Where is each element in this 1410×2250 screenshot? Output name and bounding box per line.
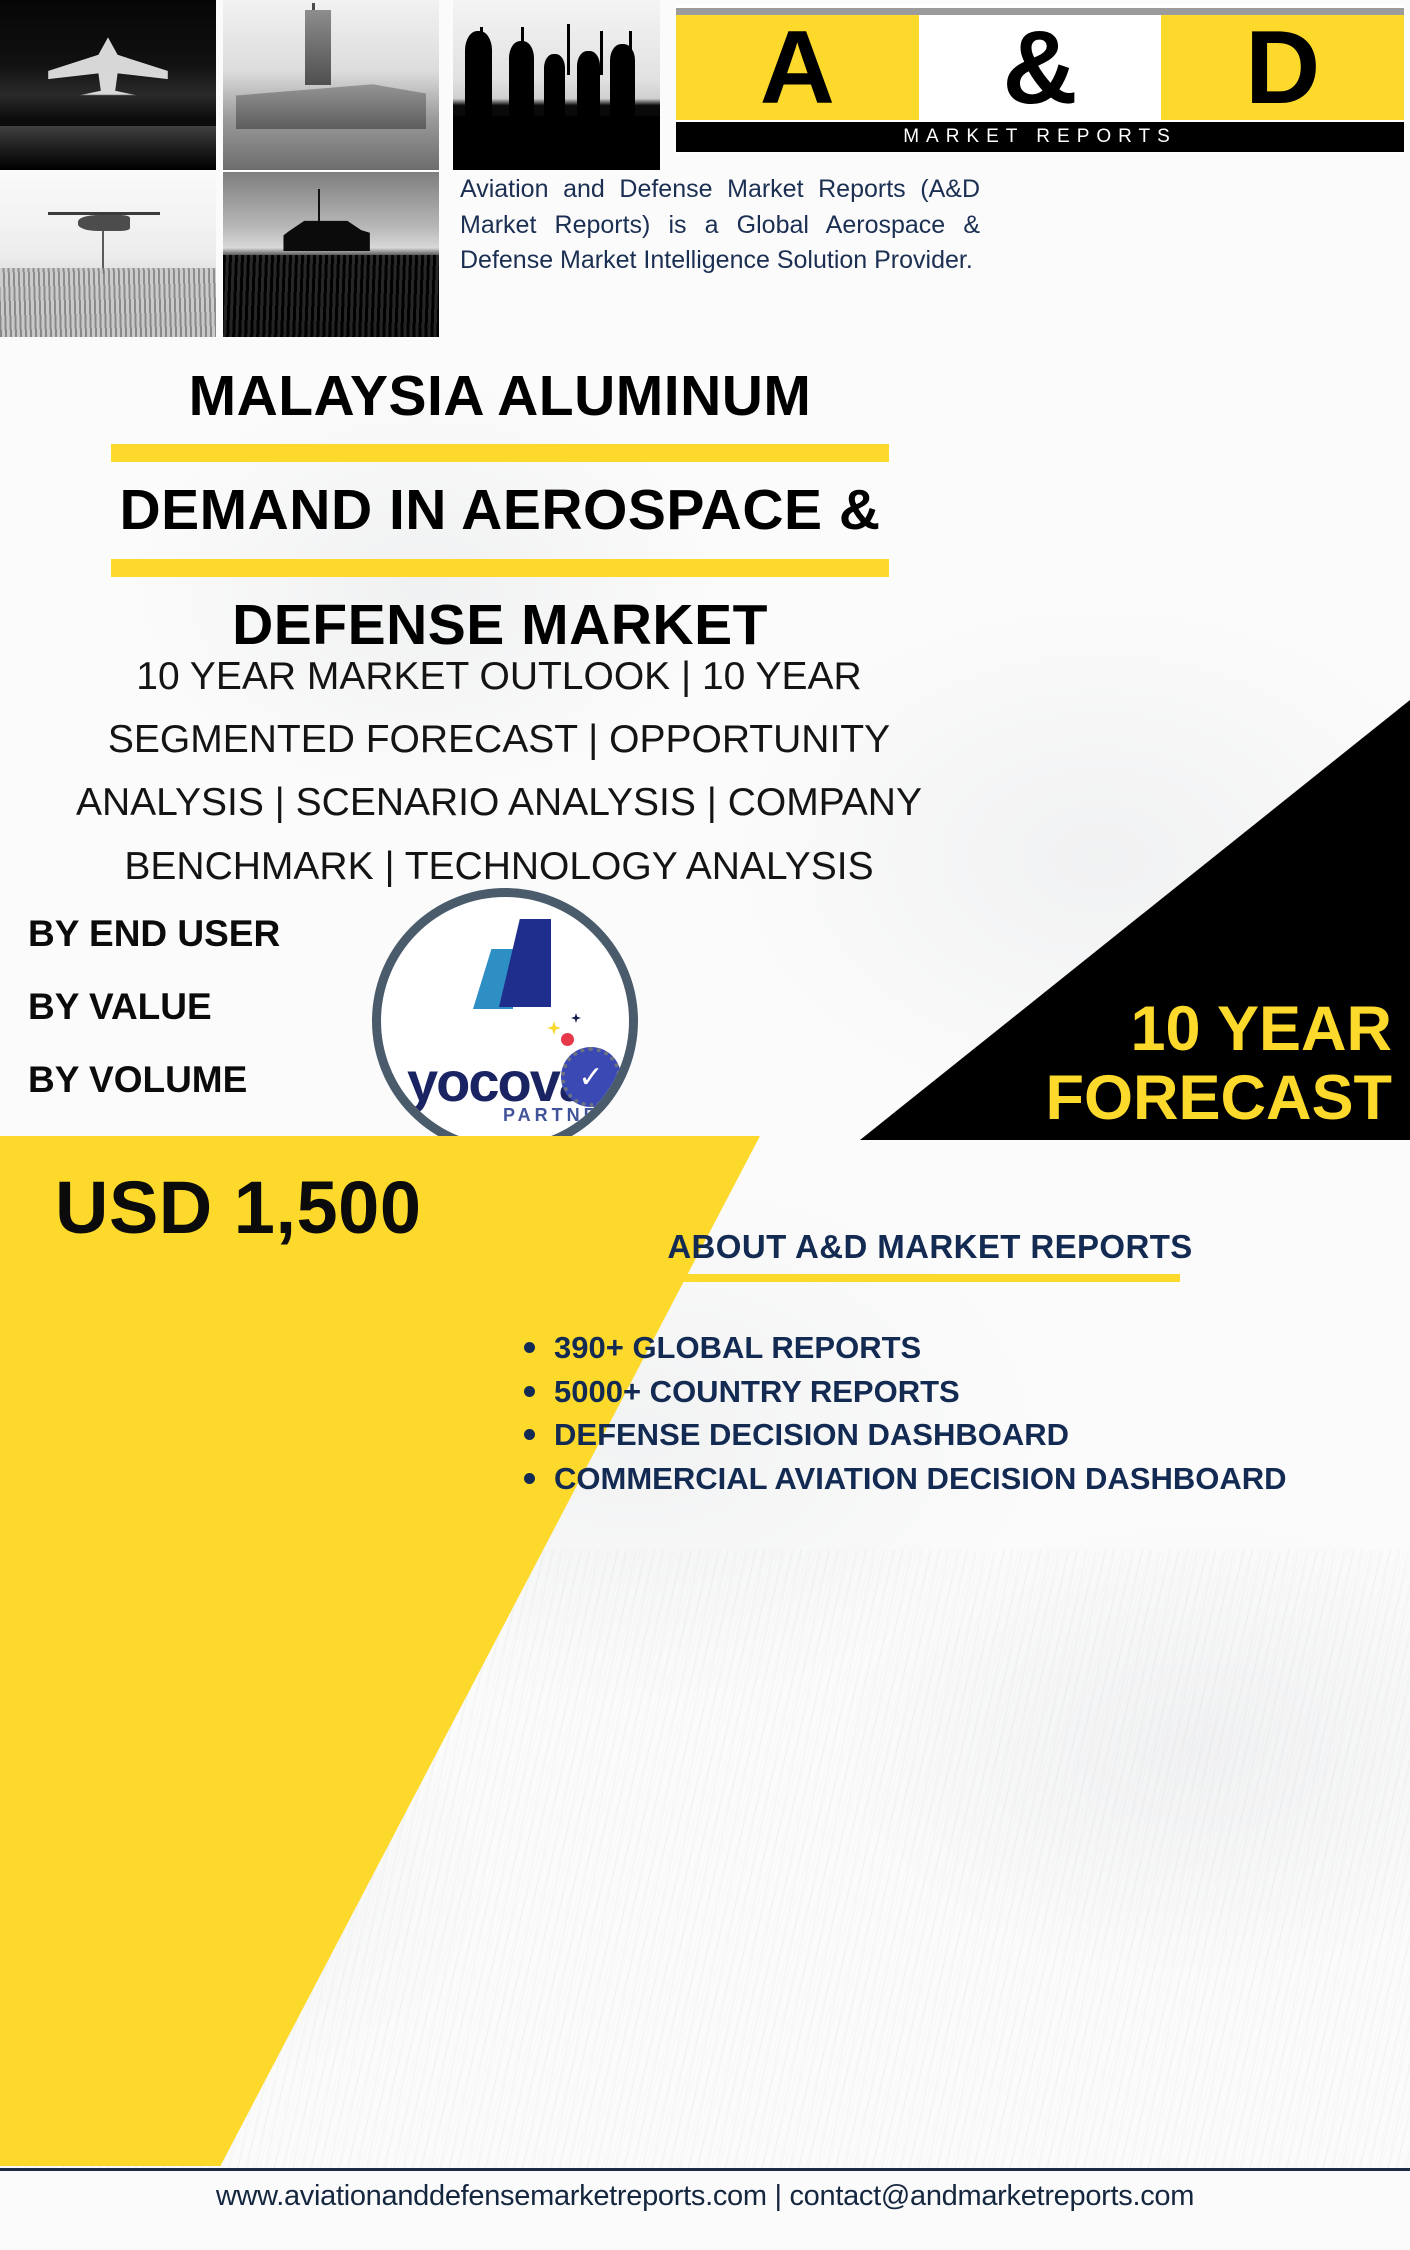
sparkle-yellow-icon [547, 1021, 561, 1035]
about-heading-rule [670, 1274, 1180, 1282]
footer-contact[interactable]: www.aviationanddefensemarketreports.com … [0, 2180, 1410, 2213]
sparkle-navy-icon [571, 1013, 581, 1023]
list-item: 390+ GLOBAL REPORTS [524, 1328, 1390, 1368]
headline-divider-2 [111, 559, 889, 577]
verified-check-icon: ✓ [561, 1047, 621, 1107]
yocova-partner-label: PARTNER [503, 1105, 617, 1126]
segment-item-value: BY VALUE [28, 988, 368, 1025]
photo-armored-vehicle [223, 172, 439, 337]
subtitle-features: 10 YEAR MARKET OUTLOOK | 10 YEAR SEGMENT… [18, 645, 980, 898]
logo-letter-a: A [676, 15, 919, 120]
segment-item-end-user: BY END USER [28, 915, 368, 952]
list-item: DEFENSE DECISION DASHBOARD [524, 1415, 1390, 1455]
header-photo-strip [0, 0, 660, 340]
photo-helicopter [0, 172, 216, 337]
brand-logo: A & D MARKET REPORTS [676, 4, 1404, 154]
photo-aircraft-carrier [223, 0, 439, 170]
logo-letter-ampersand: & [919, 15, 1162, 120]
headline-line-2: DEMAND IN AEROSPACE & [0, 474, 1000, 546]
photo-fighter-jet [0, 0, 216, 170]
intro-paragraph: Aviation and Defense Market Reports (A&D… [460, 172, 980, 279]
forecast-badge: 10 YEAR FORECAST [852, 995, 1402, 1134]
logo-letter-d: D [1161, 15, 1404, 120]
footer-divider [0, 2168, 1410, 2171]
page-title: MALAYSIA ALUMINUM DEMAND IN AEROSPACE & … [0, 360, 1000, 661]
about-section: ABOUT A&D MARKET REPORTS 390+ GLOBAL REP… [460, 1228, 1390, 1503]
price-value: USD 1,500 [55, 1165, 421, 1250]
forecast-line-2: FORECAST [852, 1064, 1392, 1133]
poster-root: A & D MARKET REPORTS Aviation and Defens… [0, 0, 1410, 2250]
about-bullet-list: 390+ GLOBAL REPORTS 5000+ COUNTRY REPORT… [460, 1328, 1390, 1499]
segmentation-list: BY END USER BY VALUE BY VOLUME [28, 915, 368, 1134]
list-item: 5000+ COUNTRY REPORTS [524, 1372, 1390, 1412]
headline-line-1: MALAYSIA ALUMINUM [0, 360, 1000, 432]
forecast-line-1: 10 YEAR [852, 995, 1392, 1064]
segment-item-volume: BY VOLUME [28, 1061, 368, 1098]
list-item: COMMERCIAL AVIATION DECISION DASHBOARD [524, 1459, 1390, 1499]
logo-tagline-bar: MARKET REPORTS [676, 122, 1404, 152]
logo-letters: A & D [676, 15, 1404, 120]
dot-red-icon [561, 1033, 574, 1046]
yocova-partner-badge: yocova ✓ PARTNER [372, 888, 638, 1154]
photo-soldiers-silhouette [453, 0, 660, 170]
logo-tagline: MARKET REPORTS [903, 126, 1177, 148]
headline-divider-1 [111, 444, 889, 462]
about-heading: ABOUT A&D MARKET REPORTS [460, 1228, 1390, 1266]
